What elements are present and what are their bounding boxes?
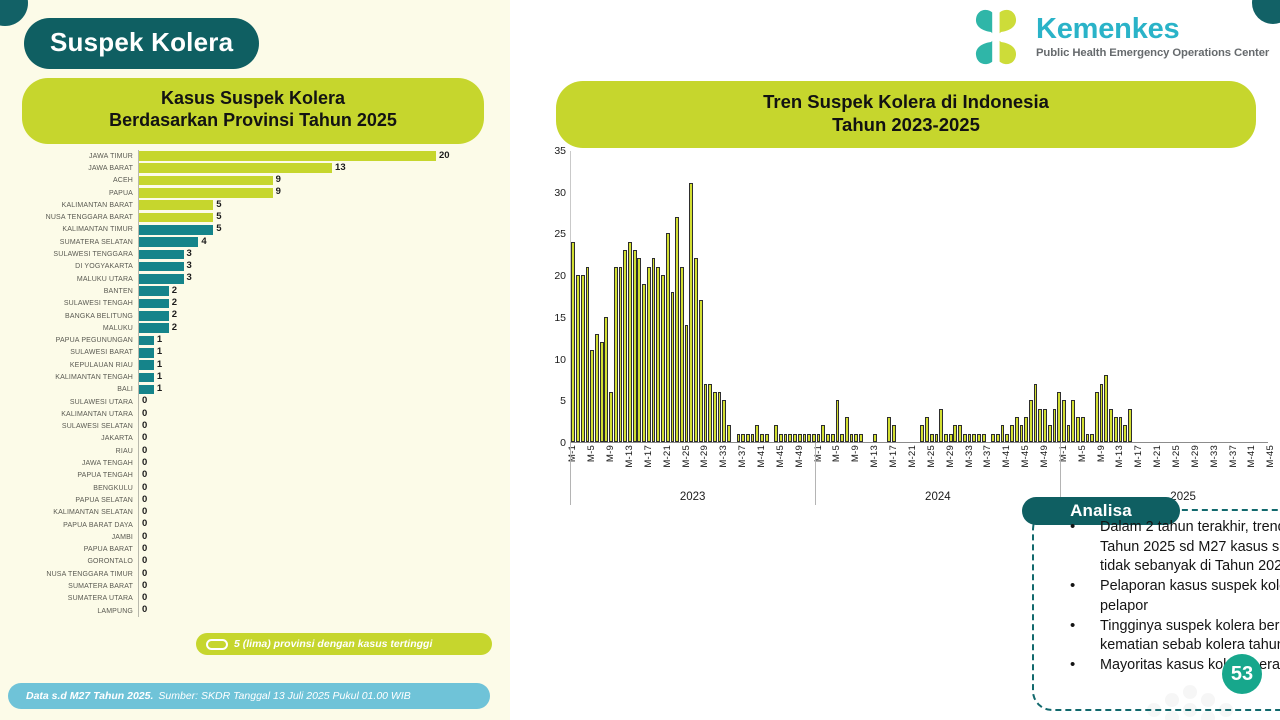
province-bar-track: 2 <box>138 310 496 322</box>
province-name: BANTEN <box>26 288 138 295</box>
trend-bar <box>680 267 684 442</box>
trend-bar <box>1057 392 1061 442</box>
province-value: 0 <box>142 469 147 480</box>
trend-bar <box>633 250 637 442</box>
province-bar-track: 0 <box>138 531 496 543</box>
trend-bar <box>873 434 877 442</box>
x-axis-tick: M-21 <box>662 445 673 468</box>
trend-bar <box>1001 425 1005 442</box>
province-name: NUSA TENGGARA BARAT <box>26 214 138 221</box>
trend-bar <box>1034 384 1038 442</box>
province-name: SUMATERA SELATAN <box>26 239 138 246</box>
trend-bar <box>600 342 604 442</box>
province-chart-title: Kasus Suspek Kolera Berdasarkan Provinsi… <box>22 78 484 144</box>
legend-highlight-badge: 5 (lima) provinsi dengan kasus tertinggi <box>196 633 492 655</box>
province-name: BALI <box>26 386 138 393</box>
x-axis-tick: M-1 <box>1058 445 1069 462</box>
trend-bar <box>817 434 821 442</box>
trend-bar <box>666 233 670 442</box>
trend-bar <box>1053 409 1057 442</box>
province-row: PAPUA BARAT DAYA0 <box>26 519 496 531</box>
province-bar-track: 1 <box>138 371 496 383</box>
province-bar <box>139 200 213 210</box>
province-name: KALIMANTAN BARAT <box>26 202 138 209</box>
province-value: 4 <box>201 236 206 247</box>
trend-bar <box>784 434 788 442</box>
province-value: 0 <box>142 420 147 431</box>
trend-bar <box>581 275 585 442</box>
province-bar-track: 1 <box>138 384 496 396</box>
trend-bar <box>826 434 830 442</box>
province-chart-title-line2: Berdasarkan Provinsi Tahun 2025 <box>28 110 478 132</box>
province-row: KEPULAUAN RIAU1 <box>26 359 496 371</box>
x-axis-tick: M-25 <box>1171 445 1182 468</box>
analysis-bullet: Tingginya suspek kolera berkaitan dengan… <box>1058 617 1280 656</box>
trend-plot-area: 05101520253035 <box>570 151 1268 443</box>
province-value: 9 <box>276 186 281 197</box>
y-axis-tick: 25 <box>554 228 566 240</box>
province-name: KEPULAUAN RIAU <box>26 362 138 369</box>
trend-bar <box>779 434 783 442</box>
province-row: PAPUA BARAT0 <box>26 544 496 556</box>
province-value: 5 <box>216 223 221 234</box>
x-axis-tick: M-29 <box>699 445 710 468</box>
province-row: JAWA TIMUR20 <box>26 150 496 162</box>
province-value: 0 <box>142 457 147 468</box>
trend-bar <box>930 434 934 442</box>
province-name: PAPUA PEGUNUNGAN <box>26 337 138 344</box>
x-axis-tick: M-1 <box>813 445 824 462</box>
province-name: GORONTALO <box>26 558 138 565</box>
y-axis-tick: 15 <box>554 312 566 324</box>
province-bar-track: 20 <box>138 150 496 162</box>
province-bar <box>139 213 213 223</box>
province-bar <box>139 385 154 395</box>
province-name: KALIMANTAN UTARA <box>26 411 138 418</box>
trend-bar <box>949 434 953 442</box>
trend-bar <box>675 217 679 442</box>
province-value: 1 <box>157 383 162 394</box>
province-bar <box>139 163 332 173</box>
trend-bar <box>1076 417 1080 442</box>
province-name: JAKARTA <box>26 435 138 442</box>
trend-bar <box>704 384 708 442</box>
right-panel: Kemenkes Public Health Emergency Operati… <box>510 0 1280 720</box>
province-bar <box>139 188 273 198</box>
x-axis-tick: M-5 <box>586 445 597 462</box>
y-axis-tick: 20 <box>554 270 566 282</box>
trend-bar <box>850 434 854 442</box>
province-value: 0 <box>142 580 147 591</box>
province-value: 9 <box>276 174 281 185</box>
province-bar-chart: JAWA TIMUR20JAWA BARAT13ACEH9PAPUA9KALIM… <box>26 150 496 640</box>
province-row: JAWA BARAT13 <box>26 162 496 174</box>
trend-bar <box>741 434 745 442</box>
x-axis-tick: M-13 <box>624 445 635 468</box>
province-bar-track: 0 <box>138 408 496 420</box>
y-axis-tick: 10 <box>554 354 566 366</box>
x-axis-tick: M-9 <box>850 445 861 462</box>
province-bar <box>139 323 169 333</box>
trend-bar <box>755 425 759 442</box>
trend-chart-title-line1: Tren Suspek Kolera di Indonesia <box>562 91 1250 114</box>
legend-label: 5 (lima) provinsi dengan kasus tertinggi <box>234 638 432 650</box>
province-row: JAKARTA0 <box>26 433 496 445</box>
province-name: JAMBI <box>26 534 138 541</box>
province-value: 2 <box>172 297 177 308</box>
province-value: 0 <box>142 482 147 493</box>
trend-bar <box>1095 392 1099 442</box>
province-name: SULAWESI SELATAN <box>26 423 138 430</box>
province-value: 1 <box>157 371 162 382</box>
trend-bar <box>920 425 924 442</box>
trend-bar <box>595 334 599 442</box>
province-row: BALI1 <box>26 384 496 396</box>
kemenkes-flower-icon <box>965 6 1027 68</box>
province-value: 13 <box>335 162 346 173</box>
province-row: SULAWESI BARAT1 <box>26 347 496 359</box>
province-bar-track: 0 <box>138 470 496 482</box>
province-bar <box>139 348 154 358</box>
province-row: KALIMANTAN SELATAN0 <box>26 507 496 519</box>
trend-bar-chart: 05101520253035 M-1M-5M-9M-13M-17M-21M-25… <box>528 143 1273 493</box>
trend-bar <box>746 434 750 442</box>
analysis-bullet-list: Dalam 2 tahun terakhir, trend suspek kol… <box>1058 518 1280 676</box>
province-bar <box>139 286 169 296</box>
y-axis-tick: 0 <box>560 437 566 449</box>
province-row: KALIMANTAN TIMUR5 <box>26 224 496 236</box>
x-axis-tick: M-29 <box>1190 445 1201 468</box>
x-axis-tick: M-1 <box>567 445 578 462</box>
trend-bar <box>652 258 656 442</box>
trend-bar <box>1109 409 1113 442</box>
trend-bar <box>661 275 665 442</box>
province-name: PAPUA TENGAH <box>26 472 138 479</box>
province-bar-track: 0 <box>138 556 496 568</box>
trend-bar <box>1029 400 1033 442</box>
kemenkes-logo: Kemenkes Public Health Emergency Operati… <box>965 6 1269 68</box>
province-bar-track: 2 <box>138 322 496 334</box>
province-row: RIAU0 <box>26 445 496 457</box>
province-name: NUSA TENGGARA TIMUR <box>26 571 138 578</box>
province-name: KALIMANTAN TIMUR <box>26 226 138 233</box>
province-value: 0 <box>142 543 147 554</box>
province-row: JAMBI0 <box>26 531 496 543</box>
trend-bar <box>737 434 741 442</box>
x-axis-tick: M-37 <box>737 445 748 468</box>
province-bar <box>139 299 169 309</box>
province-bar-track: 3 <box>138 248 496 260</box>
province-row: PAPUA SELATAN0 <box>26 494 496 506</box>
province-value: 3 <box>187 260 192 271</box>
province-bar-track: 3 <box>138 261 496 273</box>
province-bar-track: 5 <box>138 224 496 236</box>
province-bar-track: 0 <box>138 457 496 469</box>
trend-bar <box>1005 434 1009 442</box>
province-name: SUMATERA BARAT <box>26 583 138 590</box>
x-axis-tick: M-17 <box>888 445 899 468</box>
trend-bar <box>708 384 712 442</box>
province-bar-track: 0 <box>138 396 496 408</box>
trend-bar <box>713 392 717 442</box>
trend-chart-title-line2: Tahun 2023-2025 <box>562 114 1250 137</box>
x-axis-tick: M-17 <box>1133 445 1144 468</box>
x-axis-tick: M-25 <box>681 445 692 468</box>
trend-bar <box>1020 425 1024 442</box>
trend-bar <box>722 400 726 442</box>
x-axis-tick: M-45 <box>775 445 786 468</box>
province-bar <box>139 373 154 383</box>
x-axis-tick: M-37 <box>1228 445 1239 468</box>
trend-bar <box>821 425 825 442</box>
province-bar <box>139 176 273 186</box>
province-bar-track: 0 <box>138 494 496 506</box>
legend-chip-icon <box>206 639 228 650</box>
province-bar-track: 5 <box>138 199 496 211</box>
province-value: 0 <box>142 506 147 517</box>
trend-bar <box>840 434 844 442</box>
trend-bar <box>939 409 943 442</box>
province-value: 0 <box>142 395 147 406</box>
trend-bar <box>642 284 646 443</box>
province-row: SULAWESI UTARA0 <box>26 396 496 408</box>
trend-bar <box>1081 417 1085 442</box>
province-bar-track: 0 <box>138 421 496 433</box>
province-bar-track: 0 <box>138 580 496 592</box>
year-label: 2023 <box>570 491 815 503</box>
province-bar-track: 0 <box>138 544 496 556</box>
x-axis-tick: M-21 <box>907 445 918 468</box>
province-name: MALUKU <box>26 325 138 332</box>
province-value: 5 <box>216 199 221 210</box>
x-axis-tick: M-49 <box>794 445 805 468</box>
province-row: KALIMANTAN UTARA0 <box>26 408 496 420</box>
trend-bar <box>689 183 693 442</box>
trend-bar <box>859 434 863 442</box>
trend-bar <box>982 434 986 442</box>
trend-bar <box>571 242 575 442</box>
province-value: 3 <box>187 272 192 283</box>
x-axis-tick: M-45 <box>1265 445 1276 468</box>
trend-bar <box>1090 434 1094 442</box>
province-bar-track: 9 <box>138 175 496 187</box>
province-name: PAPUA BARAT <box>26 546 138 553</box>
province-name: BANGKA BELITUNG <box>26 313 138 320</box>
x-axis-tick: M-9 <box>605 445 616 462</box>
x-axis-tick: M-21 <box>1152 445 1163 468</box>
province-value: 0 <box>142 445 147 456</box>
trend-bar <box>590 350 594 442</box>
province-bar-track: 4 <box>138 236 496 248</box>
trend-bar <box>576 275 580 442</box>
trend-bar <box>751 434 755 442</box>
province-row: MALUKU UTARA3 <box>26 273 496 285</box>
province-bar-track: 0 <box>138 593 496 605</box>
trend-bar <box>637 258 641 442</box>
footer-period: Data s.d M27 Tahun 2025. <box>26 690 153 702</box>
trend-bar <box>1010 425 1014 442</box>
province-bar <box>139 250 184 260</box>
province-bar <box>139 237 198 247</box>
trend-bar <box>1062 400 1066 442</box>
province-bar-track: 2 <box>138 298 496 310</box>
trend-bar <box>671 292 675 442</box>
trend-bar <box>1024 417 1028 442</box>
x-axis-tick: M-33 <box>964 445 975 468</box>
trend-bar <box>727 425 731 442</box>
trend-bar <box>1119 417 1123 442</box>
trend-bar <box>935 434 939 442</box>
province-name: PAPUA <box>26 190 138 197</box>
trend-bar <box>619 267 623 442</box>
x-axis-tick: M-49 <box>1039 445 1050 468</box>
province-bar-track: 5 <box>138 211 496 223</box>
province-row: PAPUA PEGUNUNGAN1 <box>26 334 496 346</box>
trend-bar <box>699 300 703 442</box>
province-value: 0 <box>142 494 147 505</box>
province-value: 2 <box>172 322 177 333</box>
province-value: 0 <box>142 555 147 566</box>
province-bar <box>139 274 184 284</box>
province-row: SULAWESI TENGGARA3 <box>26 248 496 260</box>
trend-bar <box>718 392 722 442</box>
province-name: PAPUA BARAT DAYA <box>26 522 138 529</box>
x-axis-tick: M-25 <box>926 445 937 468</box>
province-bar-track: 0 <box>138 433 496 445</box>
year-label: 2024 <box>815 491 1060 503</box>
trend-bar <box>609 392 613 442</box>
trend-bar <box>1043 409 1047 442</box>
province-value: 0 <box>142 592 147 603</box>
trend-bar <box>1128 409 1132 442</box>
logo-subtitle: Public Health Emergency Operations Cente… <box>1036 48 1269 59</box>
trend-bar <box>798 434 802 442</box>
province-value: 5 <box>216 211 221 222</box>
trend-bar <box>623 250 627 442</box>
decorative-circle-top-left <box>0 0 28 26</box>
province-bar-track: 0 <box>138 445 496 457</box>
province-bar-track: 3 <box>138 273 496 285</box>
province-value: 1 <box>157 334 162 345</box>
trend-bar <box>647 267 651 442</box>
province-row: SUMATERA UTARA0 <box>26 593 496 605</box>
x-axis-tick: M-33 <box>1209 445 1220 468</box>
province-row: SULAWESI TENGAH2 <box>26 298 496 310</box>
trend-bar <box>1123 425 1127 442</box>
province-row: KALIMANTAN TENGAH1 <box>26 371 496 383</box>
province-value: 0 <box>142 604 147 615</box>
province-value: 0 <box>142 432 147 443</box>
x-axis-tick: M-13 <box>1114 445 1125 468</box>
province-name: SUMATERA UTARA <box>26 595 138 602</box>
province-bar-track: 2 <box>138 285 496 297</box>
trend-bar <box>1015 417 1019 442</box>
province-row: SUMATERA BARAT0 <box>26 580 496 592</box>
trend-bar <box>996 434 1000 442</box>
trend-bar <box>836 400 840 442</box>
province-bar <box>139 262 184 272</box>
province-name: SULAWESI TENGGARA <box>26 251 138 258</box>
province-value: 1 <box>157 346 162 357</box>
province-bar-track: 0 <box>138 568 496 580</box>
province-bar-track: 1 <box>138 359 496 371</box>
province-row: NUSA TENGGARA TIMUR0 <box>26 568 496 580</box>
trend-bar <box>685 325 689 442</box>
trend-bar <box>958 425 962 442</box>
trend-bar <box>812 434 816 442</box>
province-value: 3 <box>187 248 192 259</box>
province-bar-track: 0 <box>138 605 496 617</box>
province-bar-track: 9 <box>138 187 496 199</box>
province-row: GORONTALO0 <box>26 556 496 568</box>
trend-bar <box>925 417 929 442</box>
province-bar-track: 13 <box>138 162 496 174</box>
trend-bar <box>774 425 778 442</box>
x-axis-tick: M-37 <box>982 445 993 468</box>
province-row: ACEH9 <box>26 175 496 187</box>
x-axis-tick: M-13 <box>869 445 880 468</box>
x-axis-tick: M-9 <box>1096 445 1107 462</box>
province-value: 1 <box>157 359 162 370</box>
trend-bar <box>887 417 891 442</box>
y-axis-tick: 35 <box>554 145 566 157</box>
trend-bar <box>1114 417 1118 442</box>
trend-bar <box>807 434 811 442</box>
y-axis-tick: 5 <box>560 395 566 407</box>
logo-name: Kemenkes <box>1036 15 1269 44</box>
province-name: SULAWESI BARAT <box>26 349 138 356</box>
province-value: 2 <box>172 285 177 296</box>
trend-bar <box>760 434 764 442</box>
province-row: MALUKU2 <box>26 322 496 334</box>
trend-bar <box>614 267 618 442</box>
page-number-badge: 53 <box>1222 654 1262 694</box>
trend-bar <box>831 434 835 442</box>
page-title: Suspek Kolera <box>24 18 259 69</box>
province-name: KALIMANTAN SELATAN <box>26 509 138 516</box>
province-bar <box>139 151 436 161</box>
trend-bar <box>628 242 632 442</box>
province-bar-track: 0 <box>138 507 496 519</box>
province-name: RIAU <box>26 448 138 455</box>
y-axis-tick: 30 <box>554 187 566 199</box>
province-name: JAWA TIMUR <box>26 153 138 160</box>
trend-bar <box>977 434 981 442</box>
trend-chart-title: Tren Suspek Kolera di Indonesia Tahun 20… <box>556 81 1256 148</box>
x-axis-tick: M-33 <box>718 445 729 468</box>
province-name: SULAWESI UTARA <box>26 399 138 406</box>
trend-bar <box>963 434 967 442</box>
province-bar <box>139 311 169 321</box>
province-name: BENGKULU <box>26 485 138 492</box>
trend-x-axis-labels: M-1M-5M-9M-13M-17M-21M-25M-29M-33M-37M-4… <box>570 445 1268 493</box>
x-axis-tick: M-17 <box>643 445 654 468</box>
footer-source: Sumber: SKDR Tanggal 13 Juli 2025 Pukul … <box>158 690 410 702</box>
trend-bar <box>803 434 807 442</box>
province-name: ACEH <box>26 177 138 184</box>
trend-bar <box>854 434 858 442</box>
province-name: KALIMANTAN TENGAH <box>26 374 138 381</box>
province-chart-title-line1: Kasus Suspek Kolera <box>28 88 478 110</box>
trend-bar <box>968 434 972 442</box>
trend-bar <box>793 434 797 442</box>
province-bar-track: 1 <box>138 347 496 359</box>
province-bar <box>139 225 213 235</box>
province-row: KALIMANTAN BARAT5 <box>26 199 496 211</box>
trend-bar <box>788 434 792 442</box>
slide-page: Suspek Kolera Kasus Suspek Kolera Berdas… <box>0 0 1280 720</box>
x-axis-tick: M-5 <box>831 445 842 462</box>
